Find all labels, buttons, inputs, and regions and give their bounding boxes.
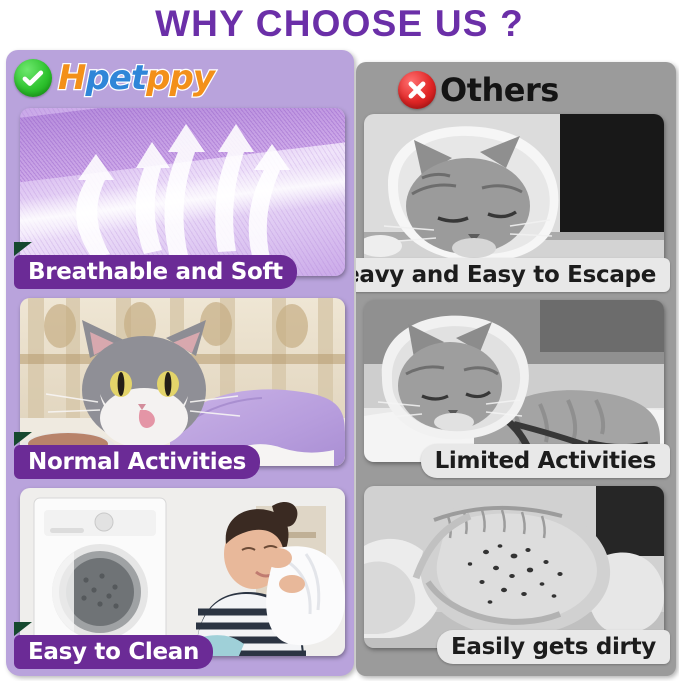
caption-heavy-escape: Heavy and Easy to Escape bbox=[356, 258, 670, 292]
image-breathable-fabric bbox=[20, 108, 345, 276]
right-card-easily-dirty bbox=[364, 486, 664, 648]
brand-part-pet: pet bbox=[85, 58, 146, 98]
page-title: WHY CHOOSE US ? bbox=[0, 0, 679, 48]
left-panel-header: Hpetppy bbox=[6, 50, 354, 106]
brand-part-ppy: ppy bbox=[146, 58, 214, 98]
image-cone-cat-lying bbox=[364, 114, 664, 276]
left-card-normal-activities bbox=[20, 298, 345, 466]
caption-limited-activities: Limited Activities bbox=[421, 444, 670, 478]
check-circle-icon bbox=[14, 59, 52, 97]
infographic-root: WHY CHOOSE US ? Hpetppy bbox=[0, 0, 679, 681]
image-dirty-cone bbox=[364, 486, 664, 648]
panel-others: Others bbox=[356, 62, 676, 676]
left-card-breathable bbox=[20, 108, 345, 276]
right-card-limited-activities bbox=[364, 300, 664, 462]
image-washing-machine-laundry bbox=[20, 488, 345, 656]
brand-part-h: H bbox=[58, 58, 85, 98]
page-title-text: WHY CHOOSE US ? bbox=[155, 3, 524, 45]
others-label: Others bbox=[440, 71, 559, 109]
panel-our-product: Hpetppy bbox=[6, 50, 354, 676]
right-panel-header: Others bbox=[356, 62, 676, 118]
caption-easy-to-clean: Easy to Clean bbox=[14, 635, 213, 669]
image-cat-in-recovery-suit bbox=[20, 298, 345, 466]
caption-easily-dirty: Easily gets dirty bbox=[437, 630, 670, 664]
caption-breathable: Breathable and Soft bbox=[14, 255, 297, 289]
left-card-easy-to-clean bbox=[20, 488, 345, 656]
right-card-heavy-escape bbox=[364, 114, 664, 276]
image-cone-cat-harness bbox=[364, 300, 664, 462]
caption-normal-activities: Normal Activities bbox=[14, 445, 260, 479]
x-circle-icon bbox=[398, 71, 436, 109]
brand-logo: Hpetppy bbox=[58, 61, 214, 95]
